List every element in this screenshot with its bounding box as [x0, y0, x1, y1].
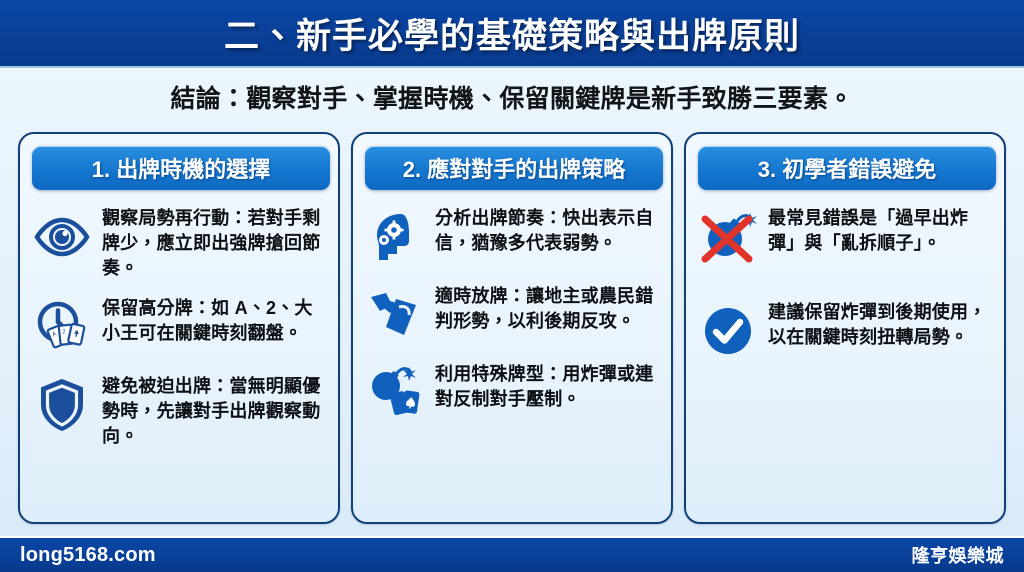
card-column-1: 1. 出牌時機的選擇 觀察局勢再行動：若對手剩牌少，應立即出強牌搶回節奏。	[18, 132, 340, 524]
list-item: 觀察局勢再行動：若對手剩牌少，應立即出強牌搶回節奏。	[32, 204, 326, 282]
card-1-header-pill: 1. 出牌時機的選擇	[32, 146, 330, 190]
list-item-text: 避免被迫出牌：當無明顯優勢時，先讓對手出牌觀察動向。	[102, 372, 326, 450]
list-item: 分析出牌節奏：快出表示自信，猶豫多代表弱勢。	[365, 204, 659, 270]
list-item: 利用特殊牌型：用炸彈或連對反制對手壓制。	[365, 360, 659, 426]
card-2-heading: 2. 應對對手的出牌策略	[403, 152, 625, 184]
card-1-heading: 1. 出牌時機的選擇	[92, 152, 270, 184]
list-item: 適時放牌：讓地主或農民錯判形勢，以利後期反攻。	[365, 282, 659, 348]
head-gears-icon	[365, 204, 425, 270]
list-item-text: 利用特殊牌型：用炸彈或連對反制對手壓制。	[435, 360, 659, 412]
list-item: 避免被迫出牌：當無明顯優勢時，先讓對手出牌觀察動向。	[32, 372, 326, 450]
cards-row: 1. 出牌時機的選擇 觀察局勢再行動：若對手剩牌少，應立即出強牌搶回節奏。	[18, 132, 1006, 524]
eye-icon	[32, 204, 92, 270]
card-3-heading: 3. 初學者錯誤避免	[758, 152, 936, 184]
header-banner: 二、新手必學的基礎策略與出牌原則	[0, 0, 1024, 68]
footer-bar: long5168.com 隆亨娛樂城	[0, 536, 1024, 572]
card-2-header-pill: 2. 應對對手的出牌策略	[365, 146, 663, 190]
list-item-text: 觀察局勢再行動：若對手剩牌少，應立即出強牌搶回節奏。	[102, 204, 326, 282]
card-3-items: 最常見錯誤是「過早出炸彈」與「亂拆順子」。 建議保留炸彈到後期使用，以在關鍵時刻…	[698, 204, 992, 364]
check-circle-icon	[698, 298, 758, 364]
list-item-text: 保留高分牌：如 A、2、大小王可在關鍵時刻翻盤。	[102, 294, 326, 346]
infographic-page: 二、新手必學的基礎策略與出牌原則 結論：觀察對手、掌握時機、保留關鍵牌是新手致勝…	[0, 0, 1024, 572]
card-2-items: 分析出牌節奏：快出表示自信，猶豫多代表弱勢。 適時放牌：讓地主或農民錯判形勢，以…	[365, 204, 659, 426]
subtitle-bar: 結論：觀察對手、掌握時機、保留關鍵牌是新手致勝三要素。	[0, 66, 1024, 128]
card-3-header-pill: 3. 初學者錯誤避免	[698, 146, 996, 190]
shield-icon	[32, 372, 92, 438]
list-item: 建議保留炸彈到後期使用，以在關鍵時刻扭轉局勢。	[698, 298, 992, 364]
bomb-crossed-icon	[698, 204, 758, 270]
card-column-2: 2. 應對對手的出牌策略	[351, 132, 673, 524]
card-1-items: 觀察局勢再行動：若對手剩牌少，應立即出強牌搶回節奏。 A	[32, 204, 326, 449]
subtitle-text: 結論：觀察對手、掌握時機、保留關鍵牌是新手致勝三要素。	[170, 79, 853, 115]
list-item: A 2	[32, 294, 326, 360]
list-item-text: 建議保留炸彈到後期使用，以在關鍵時刻扭轉局勢。	[768, 298, 992, 350]
bomb-cards-icon	[365, 360, 425, 426]
list-item-text: 最常見錯誤是「過早出炸彈」與「亂拆順子」。	[768, 204, 992, 256]
page-title: 二、新手必學的基礎策略與出牌原則	[224, 8, 800, 59]
list-item-text: 分析出牌節奏：快出表示自信，猶豫多代表弱勢。	[435, 204, 659, 256]
footer-brand: 隆亨娛樂城	[912, 542, 1005, 568]
footer-site-url: long5168.com	[20, 544, 156, 567]
list-item-text: 適時放牌：讓地主或農民錯判形勢，以利後期反攻。	[435, 282, 659, 334]
list-item: 最常見錯誤是「過早出炸彈」與「亂拆順子」。	[698, 204, 992, 270]
hand-card-icon	[365, 282, 425, 348]
card-column-3: 3. 初學者錯誤避免	[684, 132, 1006, 524]
clock-cards-icon: A 2	[32, 294, 92, 360]
